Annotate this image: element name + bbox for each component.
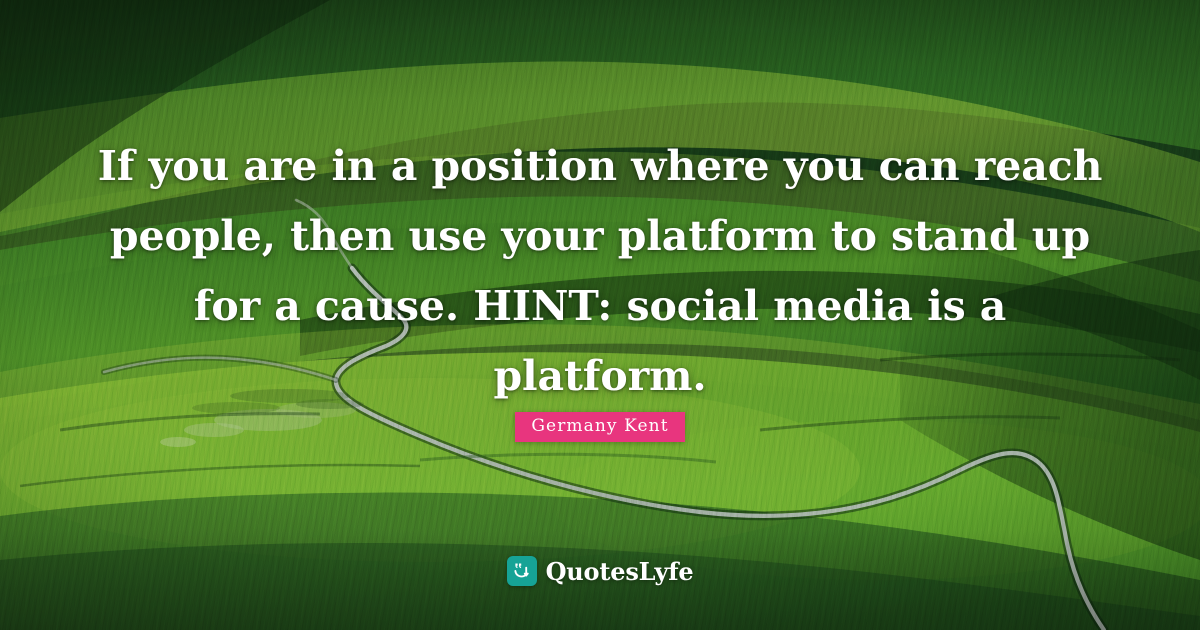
quote-line: If you are in a position where you can r… <box>95 131 1105 201</box>
quote-line: platform. <box>95 341 1105 411</box>
author-name-badge[interactable]: Germany Kent <box>515 412 684 442</box>
card-content: If you are in a position where you can r… <box>0 0 1200 630</box>
quoteslyfe-logo[interactable]: QuotesLyfe <box>0 556 1200 586</box>
quote-smiley-icon <box>507 556 537 586</box>
quote-text: If you are in a position where you can r… <box>95 131 1105 411</box>
quote-line: people, then use your platform to stand … <box>95 201 1105 271</box>
quoteslyfe-wordmark: QuotesLyfe <box>546 557 694 586</box>
author-badge-container: Germany Kent <box>0 412 1200 442</box>
quote-line: for a cause. HINT: social media is a <box>95 271 1105 341</box>
quote-card: If you are in a position where you can r… <box>0 0 1200 630</box>
